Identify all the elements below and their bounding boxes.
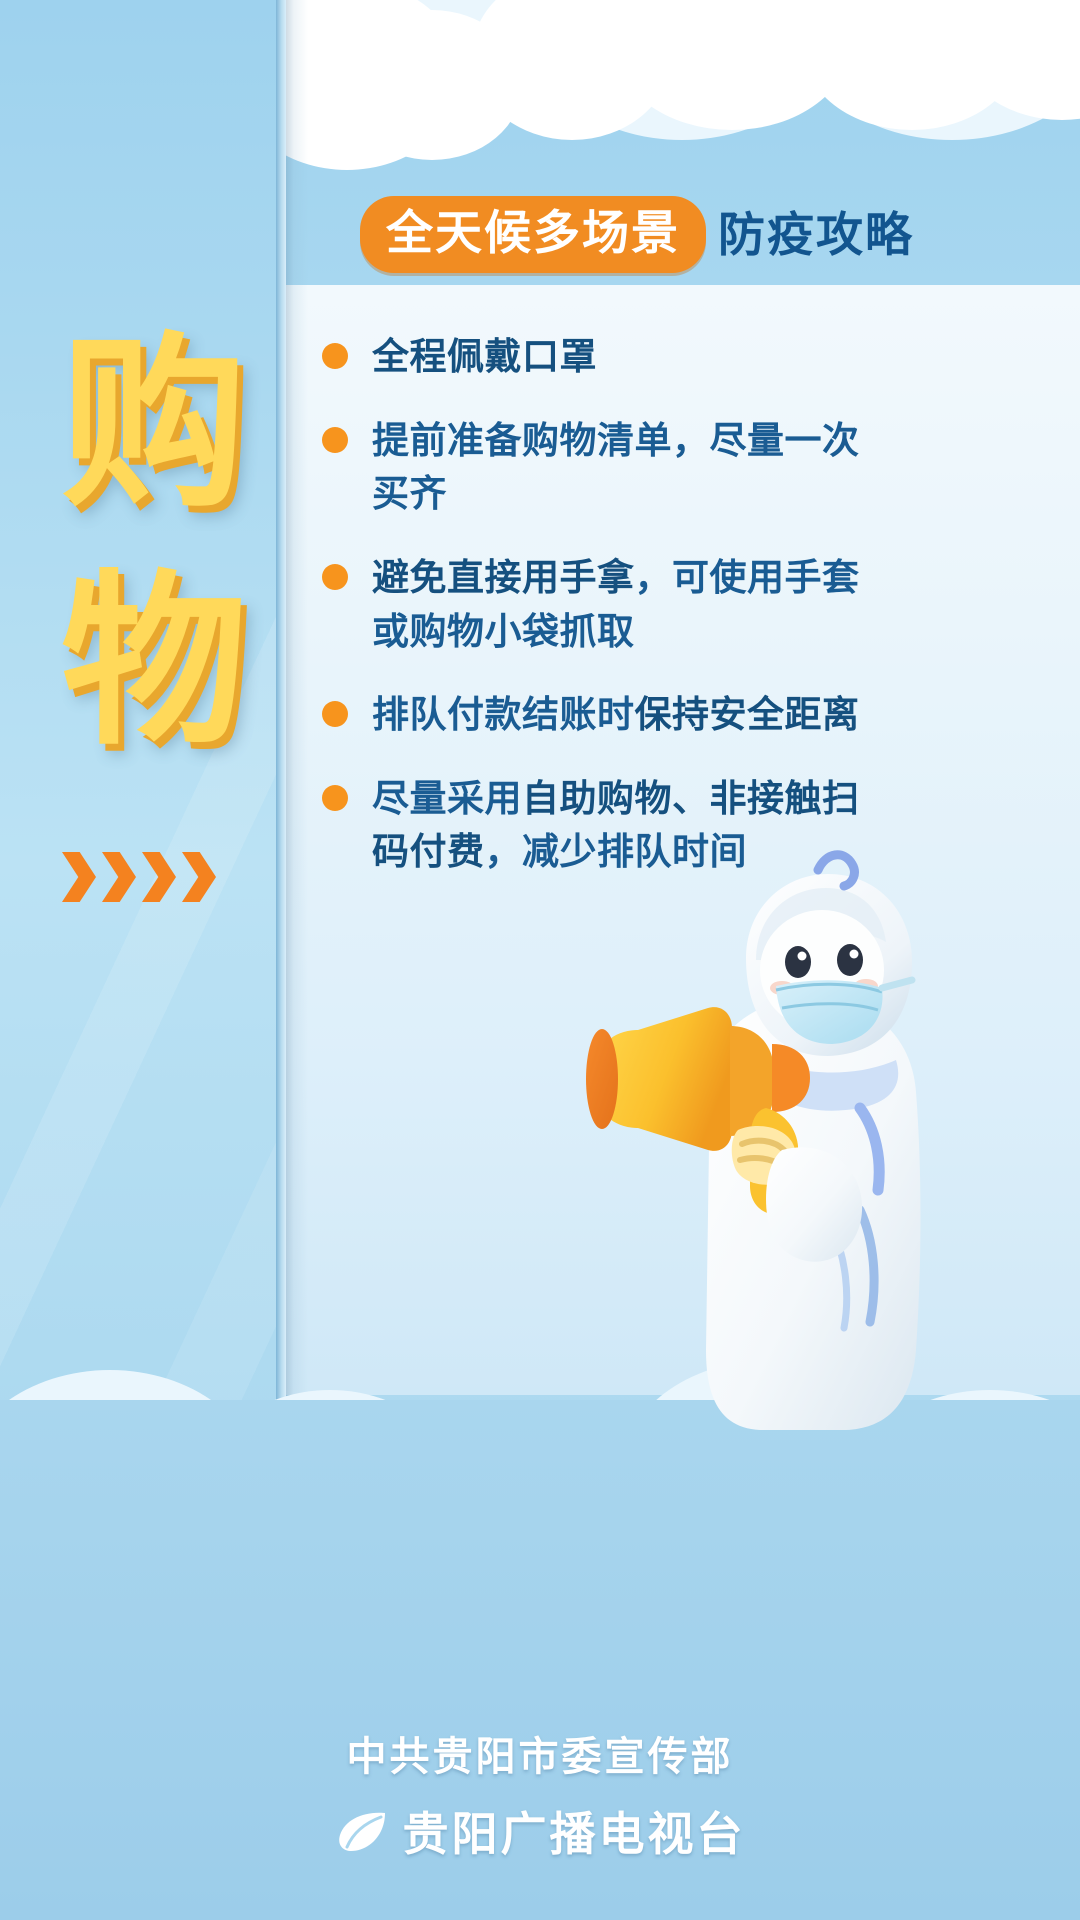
- tip-text-emphasis: 保持安全距离: [635, 694, 860, 735]
- tips-list: 全程佩戴口罩提前准备购物清单，尽量一次买齐避免直接用手拿，可使用手套或购物小袋抓…: [322, 330, 862, 909]
- category-title-char-2: 物: [34, 568, 274, 758]
- footer-broadcaster: 贵阳广播电视台: [403, 1798, 746, 1864]
- bullet-dot-icon: [322, 785, 348, 811]
- chevron-right-icon: [142, 852, 176, 902]
- chevron-right-icon: [182, 852, 216, 902]
- headline-row: 全天候多场景 防疫攻略: [360, 196, 914, 273]
- footer-broadcaster-row: 贵阳广播电视台: [335, 1798, 746, 1864]
- tip-text-emphasis: 全程佩戴口罩: [372, 336, 597, 377]
- tip-text: 避免直接用手拿，可使用手套或购物小袋抓取: [372, 551, 862, 658]
- mascot-illustration: [560, 830, 980, 1450]
- footer: 中共贵阳市委宣传部 贵阳广播电视台: [0, 1400, 1080, 1920]
- headline-subtitle: 防疫攻略: [718, 211, 914, 258]
- chevron-arrow-group: [62, 845, 252, 909]
- category-title: 购 物: [34, 330, 274, 757]
- tip-text: 排队付款结账时保持安全距离: [372, 688, 860, 742]
- bullet-dot-icon: [322, 701, 348, 727]
- category-title-char-1: 购: [34, 330, 274, 520]
- tip-text: 提前准备购物清单，尽量一次买齐: [372, 414, 862, 521]
- tip-text-normal: 提前准备购物清单，尽量一次买齐: [372, 420, 860, 515]
- chevron-right-icon: [62, 852, 96, 902]
- chevron-right-icon: [102, 852, 136, 902]
- bullet-dot-icon: [322, 343, 348, 369]
- bullet-dot-icon: [322, 564, 348, 590]
- tip-text-normal: 排队付款结账时: [372, 694, 635, 735]
- footer-organization: 中共贵阳市委宣传部: [347, 1724, 734, 1782]
- headline-badge: 全天候多场景: [360, 196, 706, 273]
- tip-text-emphasis: 避免直接用手拿: [372, 557, 635, 598]
- tip-item: 提前准备购物清单，尽量一次买齐: [322, 414, 862, 521]
- bullet-dot-icon: [322, 427, 348, 453]
- leaf-icon: [335, 1809, 389, 1853]
- tip-item: 排队付款结账时保持安全距离: [322, 688, 862, 742]
- poster-root: 购 物 全天候多场景 防疫攻略 全程佩戴口罩提前准备购物清单，尽量一次买齐避免直…: [0, 0, 1080, 1920]
- tip-item: 避免直接用手拿，可使用手套或购物小袋抓取: [322, 551, 862, 658]
- tip-text: 全程佩戴口罩: [372, 330, 597, 384]
- tip-item: 全程佩戴口罩: [322, 330, 862, 384]
- tip-text-normal: 尽量采用: [372, 778, 522, 819]
